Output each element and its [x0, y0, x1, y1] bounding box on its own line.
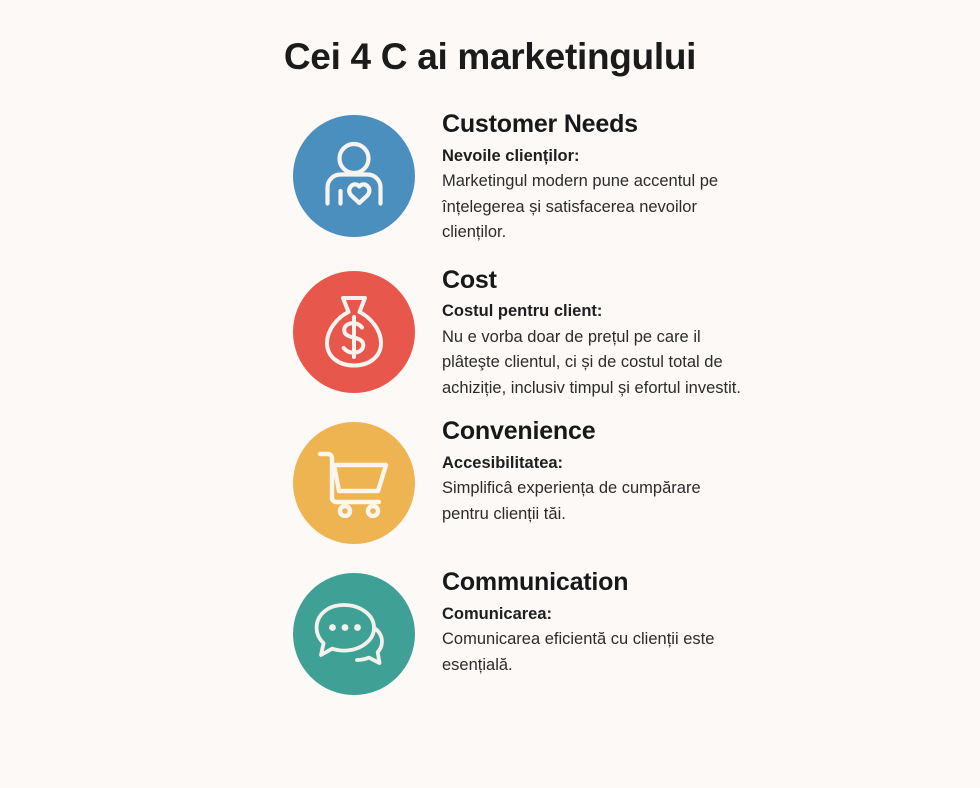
money-bag-icon: [318, 294, 390, 370]
section-body: Comunicarea eficientă cu clienții este e…: [442, 627, 742, 678]
person-heart-icon: [316, 138, 392, 214]
section-body: Marketingul modern pune accentul pe înțe…: [442, 169, 742, 246]
section-text-customer-needs: Customer Needs Nevoile clienților: Marke…: [415, 108, 742, 246]
section-text-cost: Cost Costul pentru client: Nu e vorba do…: [415, 264, 742, 402]
section-cost: Cost Costul pentru client: Nu e vorba do…: [0, 264, 980, 402]
shopping-cart-icon: [316, 448, 392, 518]
section-subheading: Accesibilitatea:: [442, 453, 742, 474]
infographic-canvas: Cei 4 C ai marketingului Customer Needs …: [0, 0, 980, 788]
section-body: Nu e vorba doar de prețul pe care il plâ…: [442, 325, 742, 402]
section-text-communication: Communication Comunicarea: Comunicarea e…: [415, 566, 742, 678]
section-heading: Convenience: [442, 417, 742, 447]
section-subheading: Costul pentru client:: [442, 301, 742, 322]
section-body: Simplificâ experiența de cumpărare pentr…: [442, 476, 742, 527]
section-communication: Communication Comunicarea: Comunicarea e…: [0, 566, 980, 695]
section-convenience: Convenience Accesibilitatea: Simplificâ …: [0, 415, 980, 544]
section-heading: Cost: [442, 266, 742, 296]
section-subheading: Comunicarea:: [442, 604, 742, 625]
section-heading: Customer Needs: [442, 110, 742, 140]
speech-bubbles-icon: [314, 598, 394, 670]
section-subheading: Nevoile clienților:: [442, 146, 742, 167]
shopping-cart-icon-circle: [293, 422, 415, 544]
section-text-convenience: Convenience Accesibilitatea: Simplificâ …: [415, 415, 742, 527]
section-customer-needs: Customer Needs Nevoile clienților: Marke…: [0, 108, 980, 246]
sections-list: Customer Needs Nevoile clienților: Marke…: [0, 108, 980, 695]
page-title: Cei 4 C ai marketingului: [0, 36, 980, 78]
person-heart-icon-circle: [293, 115, 415, 237]
speech-bubbles-icon-circle: [293, 573, 415, 695]
money-bag-icon-circle: [293, 271, 415, 393]
section-heading: Communication: [442, 568, 742, 598]
